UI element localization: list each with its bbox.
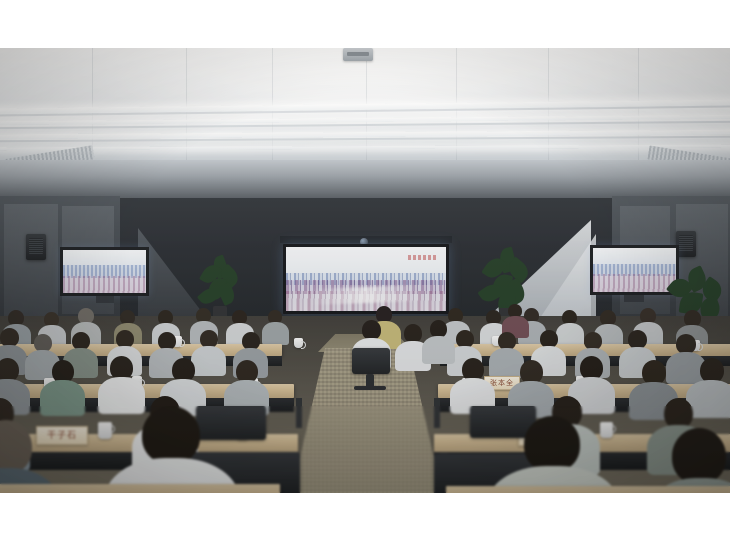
conference-room-photograph: 张本全 干子石 张本全 xyxy=(0,48,730,493)
screenshot-root: 张本全 干子石 张本全 xyxy=(0,0,730,548)
right-led-screen xyxy=(593,248,676,292)
right-screen-mount xyxy=(624,295,644,302)
mug xyxy=(294,338,303,348)
desk-row-5-right xyxy=(446,486,730,493)
wall-speaker-left-icon xyxy=(26,234,46,260)
chair-base xyxy=(354,386,386,390)
desk-leg xyxy=(296,398,302,428)
wall-panel xyxy=(4,204,58,316)
mug xyxy=(600,422,613,438)
right-screen-foreground xyxy=(593,274,676,292)
nameplate-row-4-left: 干子石 xyxy=(36,426,88,445)
left-screen-mount xyxy=(96,296,114,303)
chair xyxy=(196,406,266,440)
main-led-screen xyxy=(286,247,446,311)
desk-row-5-left xyxy=(0,484,280,493)
mug xyxy=(98,422,112,439)
screen-corner-logo-icon xyxy=(408,255,438,260)
left-screen-foreground xyxy=(63,276,146,293)
wall-speaker-right-icon xyxy=(676,231,696,257)
chair xyxy=(352,348,390,374)
desk-leg xyxy=(434,398,440,428)
left-led-screen xyxy=(63,250,146,293)
ceiling-projector xyxy=(343,48,373,61)
plant-right-stage-icon xyxy=(482,248,530,320)
